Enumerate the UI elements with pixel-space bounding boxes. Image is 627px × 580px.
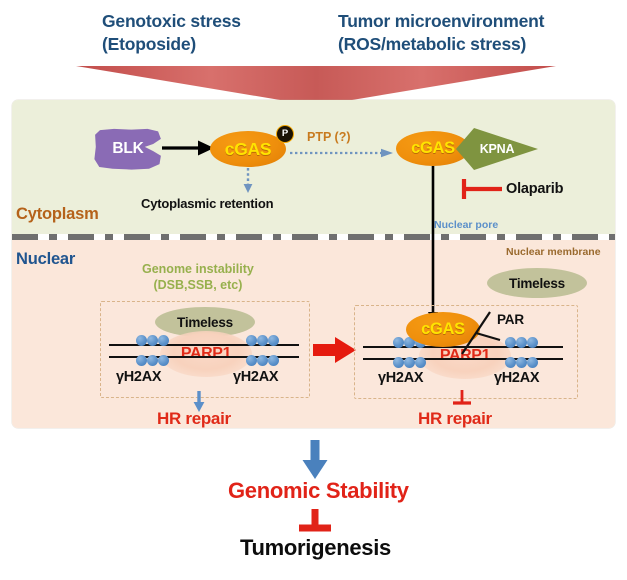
cytoplasmic-retention-arrow (241, 168, 255, 194)
nucleosome-bead (527, 357, 538, 368)
olaparib-label: Olaparib (506, 181, 563, 197)
nucleosome-bead (136, 355, 147, 366)
gamma-h2ax-left-1: γH2AX (116, 369, 161, 385)
hr-repair-left-label: HR repair (157, 409, 231, 429)
nucleosome-bead (393, 357, 404, 368)
nucleosome-bead (393, 337, 404, 348)
cgas-cytoplasmic-label: cGAS (225, 139, 271, 160)
timeless-right-label: Timeless (509, 276, 565, 291)
nucleosome-bead (404, 357, 415, 368)
arrow-down-dotted-icon (241, 168, 255, 194)
nucleosome-bead (158, 355, 169, 366)
stimulus-funnel (76, 66, 556, 102)
arrow-down-icon (301, 440, 329, 480)
cgas-cytoplasmic[interactable]: cGAS (210, 131, 286, 167)
funnel-triangle-icon (76, 66, 556, 102)
tumorigenesis-inhibition-symbol (296, 509, 334, 537)
inhibition-bar-icon (460, 176, 504, 202)
nuclear-membrane-label: Nuclear membrane (506, 246, 601, 258)
tumor-microenvironment-subtitle: (ROS/metabolic stress) (338, 33, 544, 56)
genotoxic-stress-title: Genotoxic stress (102, 10, 241, 33)
nucleosome-bead (516, 357, 527, 368)
hr-repair-right-label: HR repair (418, 409, 492, 429)
nucleosome-bead (257, 335, 268, 346)
genotoxic-stress-subtitle: (Etoposide) (102, 33, 241, 56)
genotoxic-stress-heading: Genotoxic stress (Etoposide) (102, 10, 241, 56)
genomic-stability-label: Genomic Stability (228, 478, 409, 504)
timeless-displaced-right[interactable]: Timeless (487, 268, 587, 298)
blk-to-cgas-arrow (162, 136, 214, 160)
inhibition-bar-icon (296, 509, 334, 537)
nucleosome-bead (268, 355, 279, 366)
genome-instability-annotation: Genome instability (DSB,SSB, etc) (142, 262, 254, 293)
nucleosome-bead (257, 355, 268, 366)
nucleosome-bead (505, 357, 516, 368)
cytoplasmic-retention-label: Cytoplasmic retention (141, 196, 273, 211)
ptp-dephosphorylation-arrow (290, 146, 394, 158)
arrow-right-dotted-icon (290, 147, 394, 159)
kpna-label: KPNA (480, 142, 515, 156)
olaparib-inhibition-symbol (460, 176, 504, 202)
par-branch-icon (456, 310, 508, 358)
cgas-nuclear-label: cGAS (411, 139, 455, 158)
nucleosome-bead (415, 357, 426, 368)
nucleosome-bead (246, 355, 257, 366)
timeless-left-label: Timeless (177, 315, 233, 330)
genomic-stability-arrow (301, 440, 329, 480)
tumor-microenvironment-heading: Tumor microenvironment (ROS/metabolic st… (338, 10, 544, 56)
parp1-left-label: PARP1 (181, 345, 231, 363)
blk-label: BLK (112, 140, 143, 158)
arrow-down-icon (425, 166, 441, 324)
nuclear-translocation-arrow (425, 166, 441, 324)
arrow-right-bold-icon (313, 336, 357, 364)
hr-repair-inhibition-right (449, 390, 475, 410)
nucleosome-bead (268, 335, 279, 346)
genome-instability-line2: (DSB,SSB, etc) (142, 278, 254, 294)
nuclear-pore-label: Nuclear pore (434, 219, 498, 231)
par-chain (456, 310, 508, 358)
phospho-label: P (282, 129, 288, 139)
tumor-microenvironment-title: Tumor microenvironment (338, 10, 544, 33)
tumorigenesis-label: Tumorigenesis (240, 535, 391, 561)
genome-instability-line1: Genome instability (142, 262, 254, 278)
pathway-figure: Genotoxic stress (Etoposide) Tumor micro… (0, 0, 627, 580)
nucleosome-bead (516, 337, 527, 348)
gamma-h2ax-right-1: γH2AX (378, 370, 423, 386)
inhibition-bar-icon (449, 390, 475, 410)
gamma-h2ax-left-2: γH2AX (233, 369, 278, 385)
nucleosome-bead (527, 337, 538, 348)
cytoplasm-label: Cytoplasm (16, 205, 99, 224)
nuclear-label: Nuclear (16, 250, 75, 269)
nucleosome-bead (147, 335, 158, 346)
nucleosome-bead (158, 335, 169, 346)
transition-arrow (313, 336, 357, 364)
nucleosome-bead (136, 335, 147, 346)
phosphorylation-marker-icon: P (276, 125, 294, 143)
nucleosome-bead (147, 355, 158, 366)
nucleosome-bead (246, 335, 257, 346)
arrow-right-icon (162, 136, 214, 160)
ptp-label: PTP (?) (307, 130, 351, 144)
gamma-h2ax-right-2: γH2AX (494, 370, 539, 386)
